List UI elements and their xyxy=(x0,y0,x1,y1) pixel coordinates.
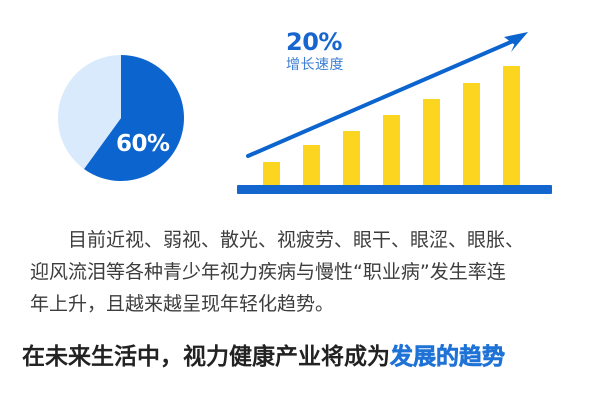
graphics-band: 60% xyxy=(0,0,600,212)
growth-percent-value: 20% xyxy=(286,30,396,54)
infographic-canvas: 60% xyxy=(0,0,600,400)
paragraph-line-2: 迎风流泪等各种青少年视力疾病与慢性“职业病”发生率连 xyxy=(30,256,578,288)
headline-accent: 发展的趋势 xyxy=(390,344,505,370)
pie-chart-icon xyxy=(58,55,184,181)
bar-5 xyxy=(423,99,440,185)
growth-callout: 20% 增长速度 xyxy=(286,30,396,72)
paragraph-line-1: 目前近视、弱视、散光、视疲劳、眼干、眼涩、眼胀、 xyxy=(30,224,578,256)
bar-chart xyxy=(232,18,562,203)
bar-1 xyxy=(263,162,280,185)
bar-6 xyxy=(463,83,480,185)
bar-7 xyxy=(503,66,520,185)
pie-chart: 60% xyxy=(58,55,184,181)
growth-subtitle: 增长速度 xyxy=(286,58,396,72)
baseline-bar-icon xyxy=(237,185,552,194)
bar-series xyxy=(263,66,520,185)
bar-4 xyxy=(383,115,400,185)
paragraph-line-3: 年上升，且越来越呈现年轻化趋势。 xyxy=(30,288,578,320)
bar-3 xyxy=(343,131,360,185)
body-paragraph: 目前近视、弱视、散光、视疲劳、眼干、眼涩、眼胀、 迎风流泪等各种青少年视力疾病与… xyxy=(30,224,578,320)
bar-2 xyxy=(303,145,320,185)
headline-prefix: 在未来生活中，视力健康产业将成为 xyxy=(22,344,390,370)
bar-chart-graphic xyxy=(232,18,562,203)
headline: 在未来生活中，视力健康产业将成为发展的趋势 xyxy=(22,342,582,372)
